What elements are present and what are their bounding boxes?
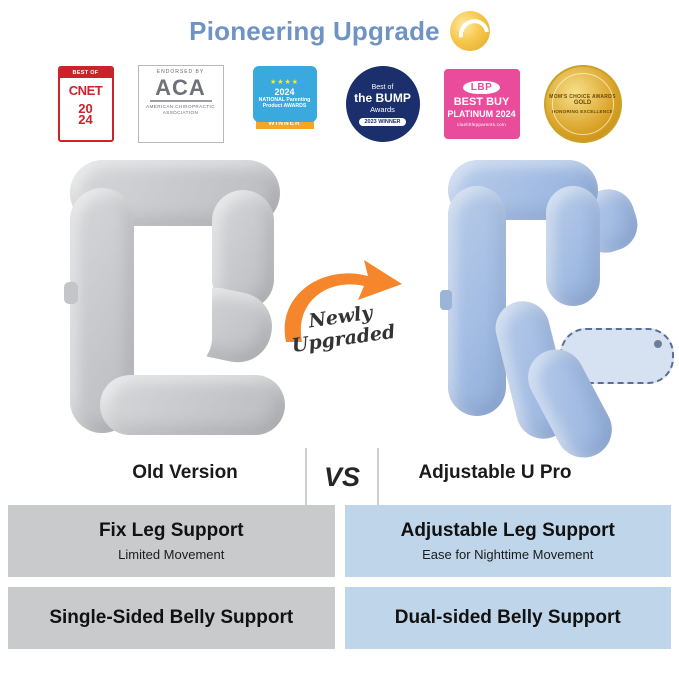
comparison-cell-new-belly-support: Dual-sided Belly Support bbox=[345, 587, 672, 649]
aca-divider bbox=[150, 100, 212, 102]
bump-line2: the BUMP bbox=[354, 92, 411, 105]
the-bump-best-of-badge: Best of the BUMP Awards 2023 WINNER bbox=[346, 66, 420, 142]
adjustable-u-pro-blue-pregnancy-pillow bbox=[420, 150, 670, 450]
aca-brand-label: ACA bbox=[155, 77, 206, 99]
cnet-badge-year-bottom: 24 bbox=[78, 114, 92, 125]
lbp-line1: BEST BUY bbox=[454, 96, 510, 109]
lbp-line2: PLATINUM 2024 bbox=[447, 109, 515, 119]
cell-title: Dual-sided Belly Support bbox=[395, 607, 621, 629]
new-pillow-tag bbox=[440, 290, 452, 310]
npa-stars-icon: ★★★★ bbox=[270, 79, 299, 87]
cell-title: Adjustable Leg Support bbox=[401, 520, 615, 542]
cnet-badge-top-label: BEST OF bbox=[60, 68, 112, 78]
cnet-best-of-badge: BEST OF CNET 20 24 bbox=[58, 66, 114, 142]
cell-subtitle: Ease for Nighttime Movement bbox=[422, 547, 593, 562]
cell-title: Fix Leg Support bbox=[99, 520, 244, 542]
npa-text: NATIONAL Parenting Product AWARDS bbox=[253, 97, 317, 109]
old-pillow-bottom-segment bbox=[100, 375, 285, 435]
new-pillow-right-segment bbox=[546, 186, 600, 306]
old-pillow-tag bbox=[64, 282, 78, 304]
cnet-badge-brand: CNET bbox=[69, 83, 102, 98]
comparison-row: Fix Leg Support Limited Movement Adjusta… bbox=[0, 505, 679, 577]
national-parenting-awards-badge: ★★★★ 2024 NATIONAL Parenting Product AWA… bbox=[248, 66, 322, 142]
lbp-best-buy-badge: LBP BEST BUY PLATINUM 2024 cluelittleppa… bbox=[444, 69, 520, 139]
npa-year: 2024 bbox=[274, 87, 294, 97]
lbp-url: cluelittlepparents.com bbox=[457, 122, 506, 127]
award-badges-row: BEST OF CNET 20 24 ENDORSED BY ACA AMERI… bbox=[0, 60, 679, 148]
version-labels: Old Version VS Adjustable U Pro bbox=[0, 462, 679, 498]
bump-year: 2023 WINNER bbox=[359, 118, 405, 126]
old-version-label: Old Version bbox=[40, 462, 330, 484]
cell-subtitle: Limited Movement bbox=[118, 547, 224, 562]
comparison-row: Single-Sided Belly Support Dual-sided Be… bbox=[0, 587, 679, 649]
comparison-table: Fix Leg Support Limited Movement Adjusta… bbox=[0, 505, 679, 659]
header: Pioneering Upgrade bbox=[0, 8, 679, 54]
swirl-medal-icon bbox=[450, 11, 490, 51]
aca-sub-label: AMERICAN CHIROPRACTIC ASSOCIATION bbox=[139, 104, 223, 116]
new-version-label: Adjustable U Pro bbox=[350, 462, 640, 484]
bump-line3: Awards bbox=[370, 105, 395, 115]
product-infographic: Pioneering Upgrade BEST OF CNET 20 24 EN… bbox=[0, 0, 679, 686]
page-title: Pioneering Upgrade bbox=[189, 16, 440, 47]
product-comparison-images: Newly Upgraded bbox=[0, 150, 679, 450]
mom-badge-ring bbox=[552, 73, 614, 135]
old-pillow-inner-gap bbox=[148, 230, 212, 370]
comparison-cell-new-leg-support: Adjustable Leg Support Ease for Nighttim… bbox=[345, 505, 672, 577]
npa-disc: ★★★★ 2024 NATIONAL Parenting Product AWA… bbox=[253, 66, 317, 122]
new-pillow-left-segment bbox=[448, 186, 506, 416]
lbp-brand: LBP bbox=[463, 81, 501, 94]
cell-title: Single-Sided Belly Support bbox=[49, 607, 293, 629]
orange-curved-upgrade-arrow: Newly Upgraded bbox=[272, 250, 412, 380]
aca-endorsement-badge: ENDORSED BY ACA AMERICAN CHIROPRACTIC AS… bbox=[138, 65, 224, 143]
cnet-badge-year: 20 24 bbox=[78, 103, 92, 125]
comparison-cell-old-belly-support: Single-Sided Belly Support bbox=[8, 587, 335, 649]
mom-choice-awards-badge: MOM'S CHOICE AWARDS GOLD HONORING EXCELL… bbox=[544, 65, 622, 143]
comparison-cell-old-leg-support: Fix Leg Support Limited Movement bbox=[8, 505, 335, 577]
